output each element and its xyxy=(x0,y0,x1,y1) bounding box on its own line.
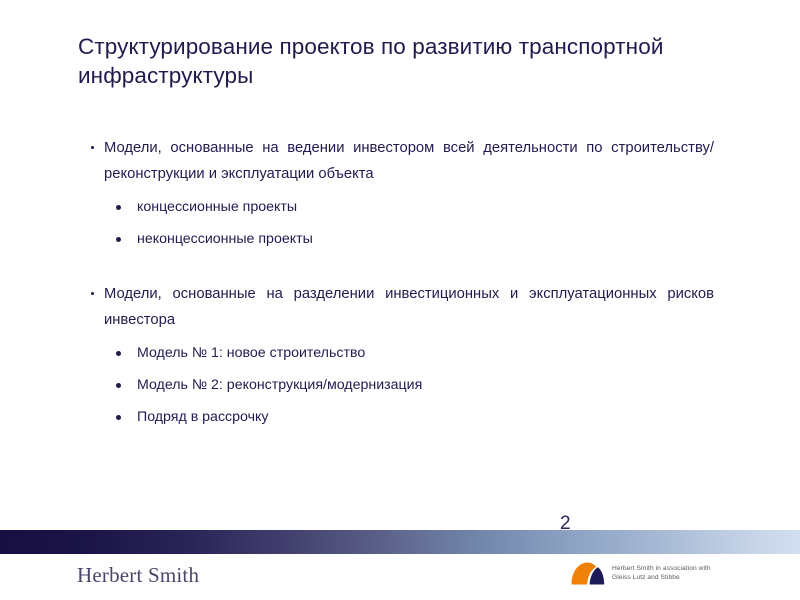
block-spacer xyxy=(88,252,714,282)
bullet-level2-text: Подряд в рассрочку xyxy=(137,409,268,425)
bullet-level1-text: Модели, основанные на ведении инвестором… xyxy=(104,140,714,182)
bullet-level2-text: Модель № 2: реконструкция/модернизация xyxy=(137,377,422,393)
bullet-level2: Модель № 2: реконструкция/модернизация xyxy=(88,373,714,398)
bullet-level1-text: Модели, основанные на разделении инвести… xyxy=(104,286,714,328)
page-title: Структурирование проектов по развитию тр… xyxy=(78,32,718,90)
association-logo: Herbert Smith in association with Gleiss… xyxy=(570,560,711,586)
bullet-level2: Модель № 1: новое строительство xyxy=(88,341,714,366)
bullet-level1: Модели, основанные на ведении инвестором… xyxy=(88,136,714,187)
bullet-level2: Подряд в рассрочку xyxy=(88,405,714,430)
bullet-level2-text: неконцессионные проекты xyxy=(137,231,313,247)
bullet-dot-icon xyxy=(116,205,121,210)
bullet-level2-text: концессионные проекты xyxy=(137,199,297,215)
bullet-level2-text: Модель № 1: новое строительство xyxy=(137,345,365,361)
bullet-dot-icon xyxy=(91,292,94,295)
bullet-dot-icon xyxy=(91,146,94,149)
bullet-dot-icon xyxy=(116,415,121,420)
association-logo-text: Herbert Smith in association with Gleiss… xyxy=(612,564,711,583)
footer-gradient-band xyxy=(0,530,800,554)
arch-logo-icon xyxy=(570,560,606,586)
bullet-dot-icon xyxy=(116,351,121,356)
bullet-level2: неконцессионные проекты xyxy=(88,227,714,252)
brand-wordmark: Herbert Smith xyxy=(77,562,199,588)
presentation-slide: Структурирование проектов по развитию тр… xyxy=(0,0,800,600)
bullet-dot-icon xyxy=(116,237,121,242)
bullet-dot-icon xyxy=(116,383,121,388)
slide-body: Модели, основанные на ведении инвестором… xyxy=(88,136,714,430)
bullet-level2: концессионные проекты xyxy=(88,195,714,220)
bullet-level1: Модели, основанные на разделении инвести… xyxy=(88,282,714,333)
